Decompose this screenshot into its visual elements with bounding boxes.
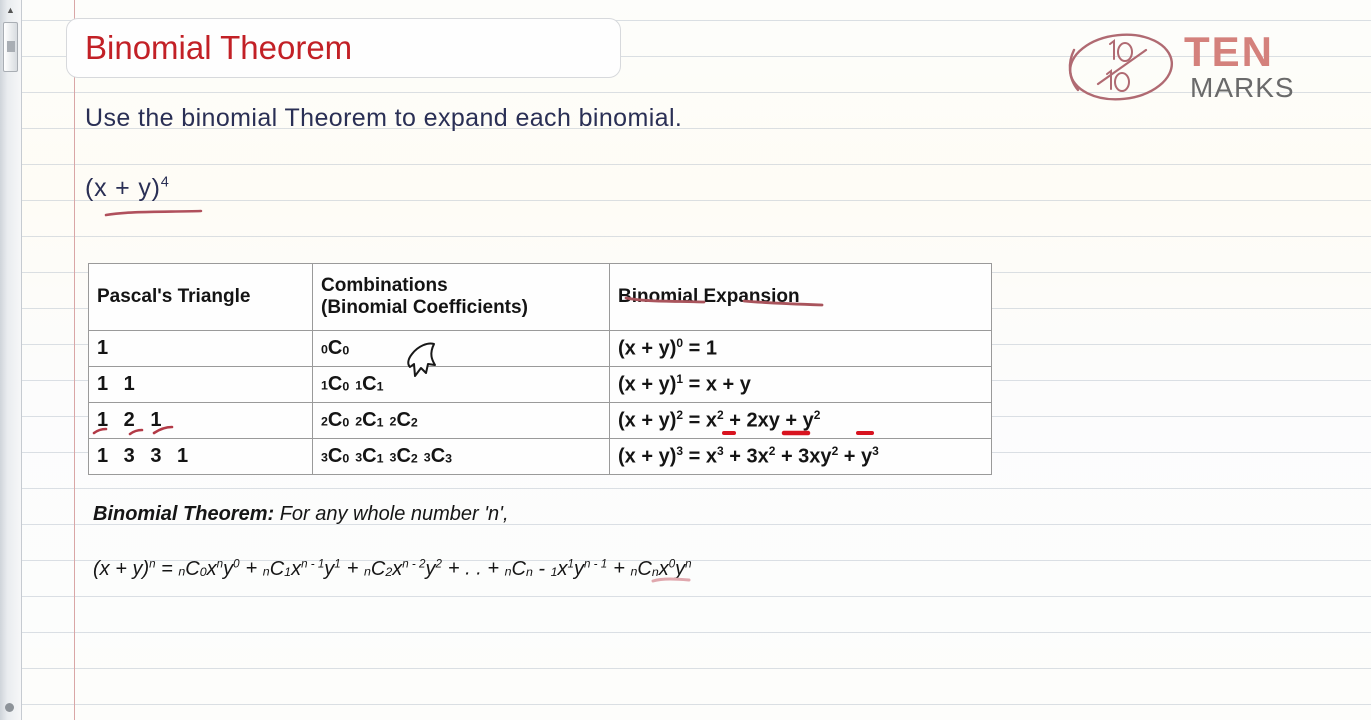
expansion-row-mark-annotations — [722, 427, 892, 439]
formula-ellipsis: + . . + — [448, 558, 505, 580]
theorem-label: Binomial Theorem: — [93, 503, 274, 525]
logo-word-ten: TEN — [1184, 28, 1274, 76]
table-header-row: Pascal's Triangle Combinations (Binomial… — [89, 264, 992, 331]
tenmarks-logo: TEN MARKS — [1062, 28, 1302, 108]
header-combinations: Combinations (Binomial Coefficients) — [313, 264, 610, 331]
cell-combinations: 0C0 — [313, 331, 610, 367]
cell-combinations: 1C01C1 — [313, 367, 610, 403]
scrollbar-thumb[interactable] — [3, 22, 18, 72]
combination-term: 0C0 — [321, 337, 349, 359]
cell-binomial-expansion: (x + y)3 = x3 + 3x2 + 3xy2 + y3 — [610, 439, 992, 475]
header-underline-annotation-2 — [742, 299, 824, 307]
cell-binomial-expansion: (x + y)1 = x + y — [610, 367, 992, 403]
combination-term: 2C1 — [355, 409, 383, 431]
page-title-box: Binomial Theorem — [66, 18, 621, 78]
problem-exponent: 4 — [161, 175, 170, 191]
cell-binomial-expansion: (x + y)0 = 1 — [610, 331, 992, 367]
instruction-text: Use the binomial Theorem to expand each … — [85, 104, 682, 133]
header-combinations-line1: Combinations — [321, 275, 601, 297]
combination-term: 3C1 — [355, 445, 383, 467]
header-underline-annotation-1 — [624, 296, 706, 304]
worksheet-page: ▲ Binomial Theorem TEN MARKS — [0, 0, 1371, 720]
theorem-body: For any whole number 'n', — [274, 503, 508, 525]
table-row: 1 11C01C1(x + y)1 = x + y — [89, 367, 992, 403]
mouse-cursor-arrow-icon — [404, 340, 444, 382]
formula-plus-1: + — [246, 558, 263, 580]
combination-term: 2C2 — [390, 409, 418, 431]
cell-pascal-triangle: 1 3 3 1 — [89, 439, 313, 475]
formula-term-3: nC2xn - 2y2 — [364, 558, 442, 580]
combination-term: 1C0 — [321, 373, 349, 395]
logo-word-marks: MARKS — [1190, 72, 1295, 104]
cell-pascal-triangle: 1 1 — [89, 367, 313, 403]
combination-term: 3C0 — [321, 445, 349, 467]
combination-term: 1C1 — [355, 373, 383, 395]
formula-term-4: nCn - 1x1yn - 1 — [505, 558, 608, 580]
scrollbar-thumb-grip — [7, 41, 15, 52]
header-combinations-line2: (Binomial Coefficients) — [321, 297, 601, 319]
formula-term-1: nC0xny0 — [178, 558, 239, 580]
header-pascals-triangle: Pascal's Triangle — [89, 264, 313, 331]
scroll-up-arrow-icon[interactable]: ▲ — [4, 4, 17, 17]
binomial-table-wrapper: Pascal's Triangle Combinations (Binomial… — [88, 263, 991, 475]
table-row: 1 3 3 13C03C13C23C3(x + y)3 = x3 + 3x2 +… — [89, 439, 992, 475]
combination-term: 3C3 — [424, 445, 452, 467]
vertical-scrollbar[interactable]: ▲ — [0, 0, 22, 720]
combination-term: 2C0 — [321, 409, 349, 431]
table-row: 10C0(x + y)0 = 1 — [89, 331, 992, 367]
ten-over-ten-mark-icon — [1062, 28, 1180, 106]
cell-combinations: 2C02C12C2 — [313, 403, 610, 439]
cell-pascal-triangle: 1 — [89, 331, 313, 367]
problem-base: (x + y) — [85, 174, 161, 202]
formula-lhs: (x + y)n = — [93, 558, 178, 580]
page-title: Binomial Theorem — [85, 29, 352, 67]
pascal-row-tick-annotations — [92, 425, 202, 437]
problem-underline-annotation — [104, 209, 204, 217]
cell-combinations: 3C03C13C23C3 — [313, 439, 610, 475]
formula-plus-4: + — [613, 558, 630, 580]
theorem-formula: (x + y)n = nC0xny0+ nC1xn - 1y1+ nC2xn -… — [93, 557, 698, 581]
margin-rule-line — [74, 0, 75, 720]
formula-underline-annotation — [651, 575, 691, 585]
theorem-statement: Binomial Theorem: For any whole number '… — [93, 503, 509, 526]
problem-expression: (x + y)4 — [85, 174, 170, 203]
formula-plus-2: + — [347, 558, 364, 580]
scrollbar-bottom-dot[interactable] — [5, 703, 14, 712]
combination-term: 3C2 — [390, 445, 418, 467]
formula-term-2: nC1xn - 1y1 — [263, 558, 341, 580]
binomial-table-body: 10C0(x + y)0 = 11 11C01C1(x + y)1 = x + … — [89, 331, 992, 475]
binomial-table: Pascal's Triangle Combinations (Binomial… — [88, 263, 992, 475]
